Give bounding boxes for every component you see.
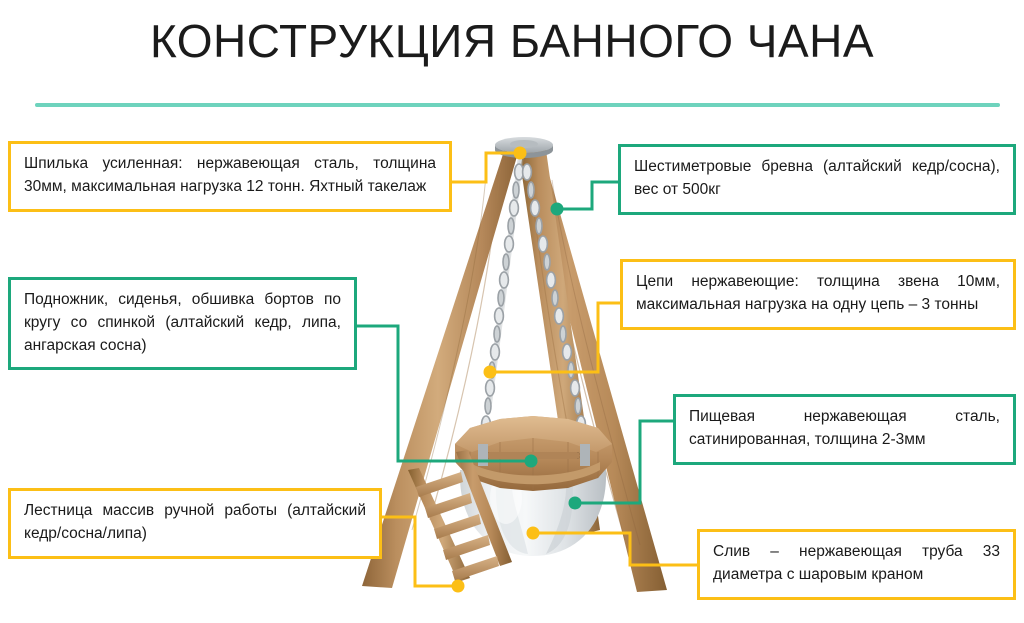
connector-seats (357, 326, 531, 461)
connector-steel (575, 421, 673, 503)
marker-chains (484, 366, 497, 379)
infographic-canvas: КОНСТРУКЦИЯ БАННОГО ЧАНА (0, 0, 1024, 623)
callout-seats-text: Подножник, сиденья, обшивка бортов по кр… (24, 289, 341, 357)
callout-chains-text: Цепи нержавеющие: толщина звена 10мм, ма… (636, 271, 1000, 317)
callout-steel[interactable]: Пищевая нержавеющая сталь, сатинированна… (673, 394, 1016, 465)
callout-drain-text: Слив – нержавеющая труба 33 диаметра с ш… (713, 541, 1000, 587)
callout-seats[interactable]: Подножник, сиденья, обшивка бортов по кр… (8, 277, 357, 370)
callout-logs-text: Шестиметровые бревна (алтайский кедр/сос… (634, 156, 1000, 202)
connector-logs (557, 182, 618, 209)
marker-stud (514, 147, 527, 160)
callout-ladder[interactable]: Лестница массив ручной работы (алтайский… (8, 488, 382, 559)
marker-steel (569, 497, 582, 510)
connector-stud (452, 153, 520, 182)
connector-ladder (382, 517, 458, 586)
connector-chains (490, 303, 620, 372)
callout-drain[interactable]: Слив – нержавеющая труба 33 диаметра с ш… (697, 529, 1016, 600)
marker-drain (527, 527, 540, 540)
callout-stud-text: Шпилька усиленная: нержавеющая сталь, то… (24, 153, 436, 199)
marker-ladder (452, 580, 465, 593)
marker-logs (551, 203, 564, 216)
callout-ladder-text: Лестница массив ручной работы (алтайский… (24, 500, 366, 546)
callout-stud[interactable]: Шпилька усиленная: нержавеющая сталь, то… (8, 141, 452, 212)
marker-dots (452, 147, 582, 593)
callout-steel-text: Пищевая нержавеющая сталь, сатинированна… (689, 406, 1000, 452)
callout-chains[interactable]: Цепи нержавеющие: толщина звена 10мм, ма… (620, 259, 1016, 330)
callout-logs[interactable]: Шестиметровые бревна (алтайский кедр/сос… (618, 144, 1016, 215)
marker-seats (525, 455, 538, 468)
connector-drain (533, 533, 697, 565)
